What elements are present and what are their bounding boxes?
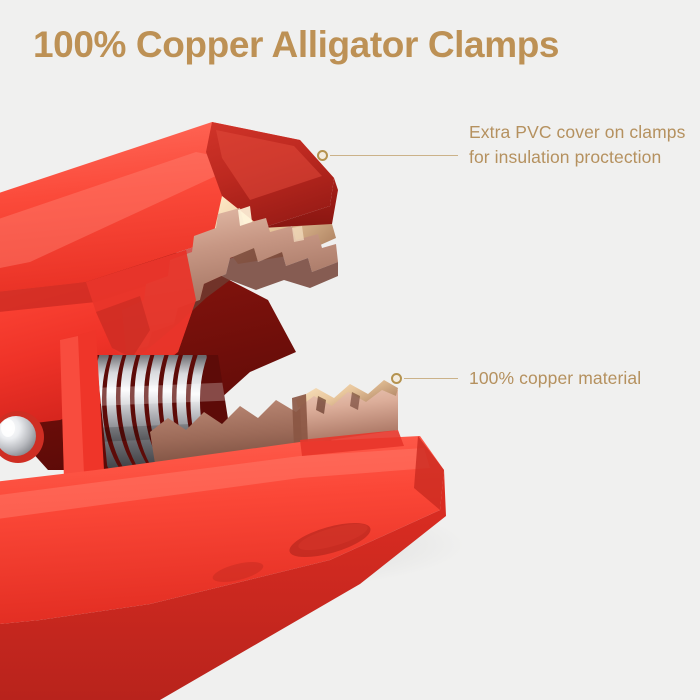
callout-dot-copper-material[interactable] xyxy=(391,373,402,384)
callout-dot-pvc-cover[interactable] xyxy=(317,150,328,161)
callout-label-copper-material: 100% copper material xyxy=(469,366,694,391)
product-illustration xyxy=(0,0,700,700)
callout-leader-line-pvc-cover xyxy=(330,155,458,157)
callout-label-pvc-cover: Extra PVC cover on clamps for insulation… xyxy=(469,120,694,170)
callout-leader-line-copper-material xyxy=(404,378,458,380)
rivet-glint xyxy=(1,419,15,437)
upper-jaw-tooth-glint-2 xyxy=(292,226,304,242)
infographic-canvas: 100% Copper Alligator Clamps xyxy=(0,0,700,700)
